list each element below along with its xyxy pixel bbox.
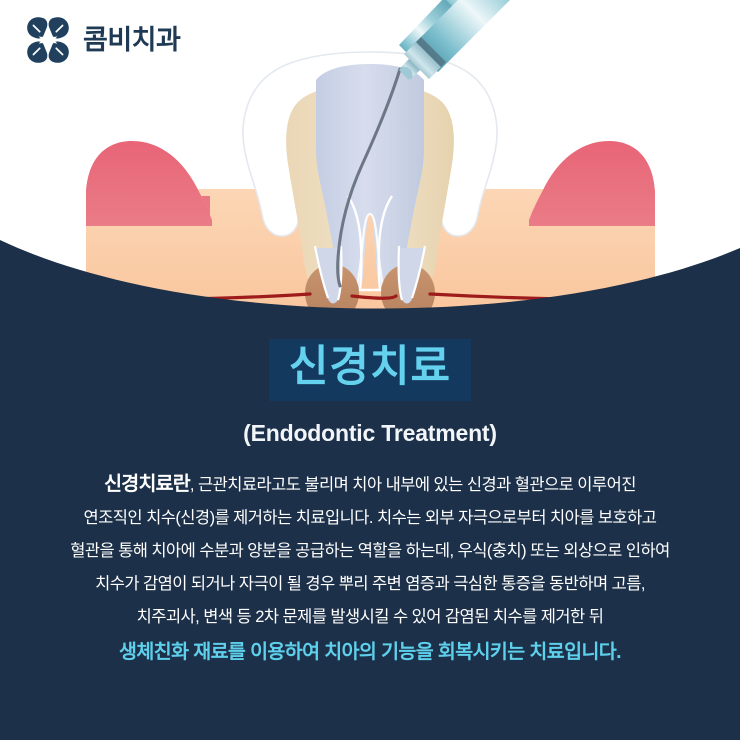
description-line-1-rest: , 근관치료라고도 불리며 치아 내부에 있는 신경과 혈관으로 이루어진 (190, 476, 636, 494)
infographic-poster: 콤비치과 신경치료 (Endodontic Treatment) 신경치료란, … (0, 0, 740, 740)
description-lead: 신경치료란 (104, 473, 190, 495)
description-line-1: 신경치료란, 근관치료라고도 불리며 치아 내부에 있는 신경과 혈관으로 이루… (0, 468, 740, 502)
description-block: 신경치료란, 근관치료라고도 불리며 치아 내부에 있는 신경과 혈관으로 이루… (0, 468, 740, 670)
poster-content: 신경치료 (Endodontic Treatment) 신경치료란, 근관치료라… (0, 0, 740, 740)
description-line-4: 치수가 감염이 되거나 자극이 될 경우 뿌리 주변 염증과 극심한 통증을 동… (0, 568, 740, 601)
brand-logo[interactable]: 콤비치과 (22, 14, 180, 66)
page-title: 신경치료 (289, 343, 451, 392)
description-line-6-accent: 생체친화 재료를 이용하여 치아의 기능을 회복시키는 치료입니다. (0, 634, 740, 670)
brand-name: 콤비치과 (83, 27, 180, 54)
page-subtitle: (Endodontic Treatment) (0, 420, 740, 447)
description-line-3: 혈관을 통해 치아에 수분과 양분을 공급하는 역할을 하는데, 우식(충치) … (0, 535, 740, 568)
description-line-5: 치주괴사, 변색 등 2차 문제를 발생시킬 수 있어 감염된 치수를 제거한 … (0, 601, 740, 634)
clover-flower-icon (22, 14, 74, 66)
description-line-2: 연조직인 치수(신경)를 제거하는 치료입니다. 치수는 외부 자극으로부터 치… (0, 502, 740, 535)
title-highlight-box: 신경치료 (269, 339, 471, 401)
